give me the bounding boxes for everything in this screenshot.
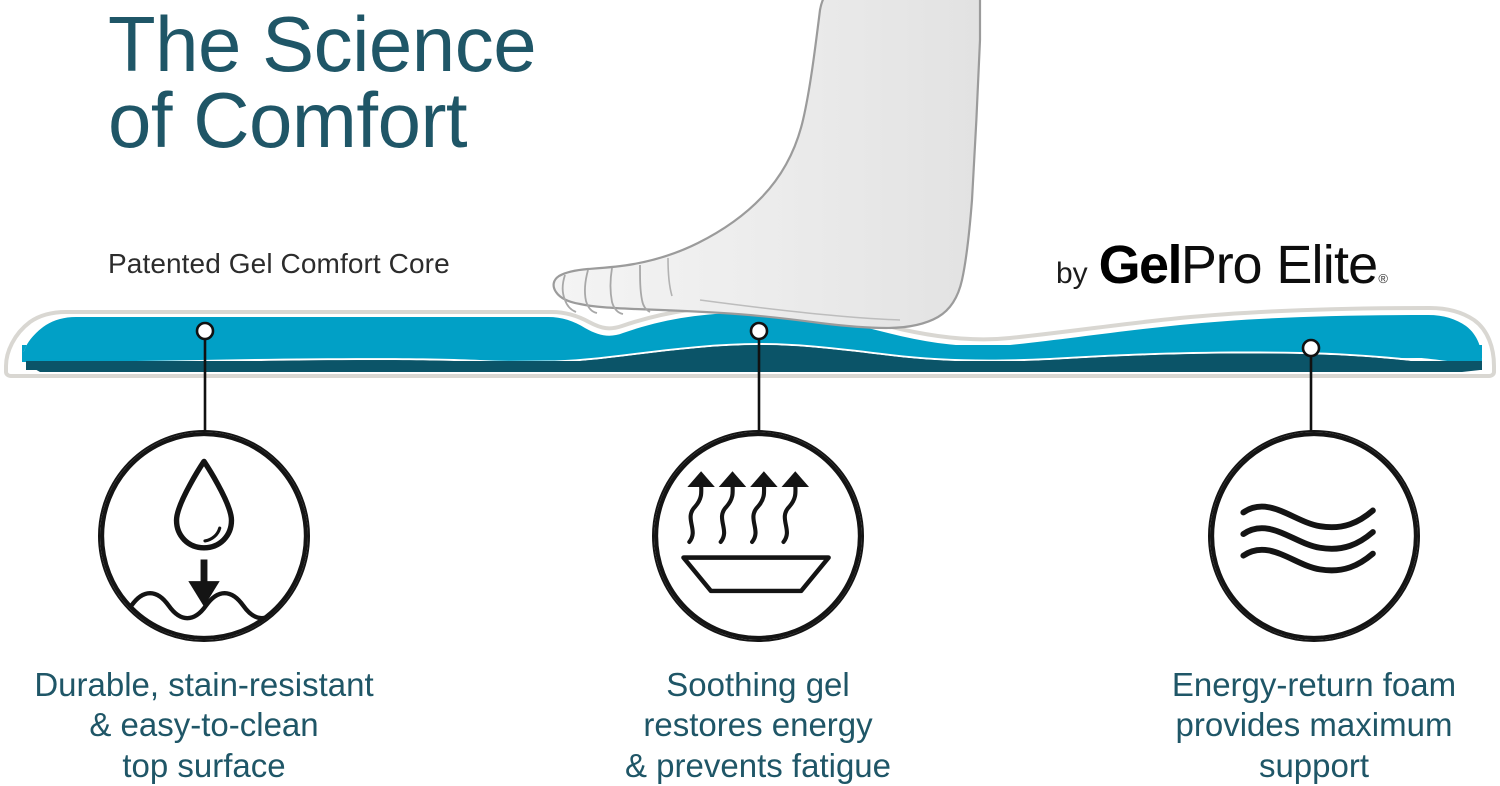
feature-2: Soothing gel restores energy & prevents … [578, 430, 938, 786]
gel-layer [22, 314, 1482, 362]
core-label: Patented Gel Comfort Core [108, 248, 450, 280]
feature-2-caption: Soothing gel restores energy & prevents … [578, 665, 938, 786]
brand-elite: Elite [1276, 234, 1377, 296]
callout-dot-2 [751, 323, 767, 339]
feature-1-caption: Durable, stain-resistant & easy-to-clean… [24, 665, 384, 786]
science-of-comfort-infographic: The Science of Comfort Patented Gel Comf… [0, 0, 1500, 778]
droplet-water-icon [98, 430, 310, 642]
callout-dot-1 [197, 323, 213, 339]
mat-shell [6, 306, 1494, 376]
callout-leaders [197, 323, 1319, 445]
wavy-lines-icon [1208, 430, 1420, 642]
feature-3: Energy-return foam provides maximum supp… [1134, 430, 1494, 786]
feature-3-caption: Energy-return foam provides maximum supp… [1134, 665, 1494, 786]
gel-layer-body [24, 313, 1482, 366]
brand-gel: Gel [1099, 234, 1181, 296]
brand-pro: Pro [1181, 234, 1261, 296]
brand-prefix: by [1056, 257, 1088, 291]
brand-logo: by Gel Pro Elite ® [1056, 234, 1388, 296]
registered-mark-icon: ® [1378, 271, 1388, 286]
foam-layer [24, 343, 1482, 372]
rising-arrows-mat-icon [652, 430, 864, 642]
page-title: The Science of Comfort [108, 6, 728, 159]
feature-1: Durable, stain-resistant & easy-to-clean… [24, 430, 384, 786]
callout-dot-3 [1303, 340, 1319, 356]
